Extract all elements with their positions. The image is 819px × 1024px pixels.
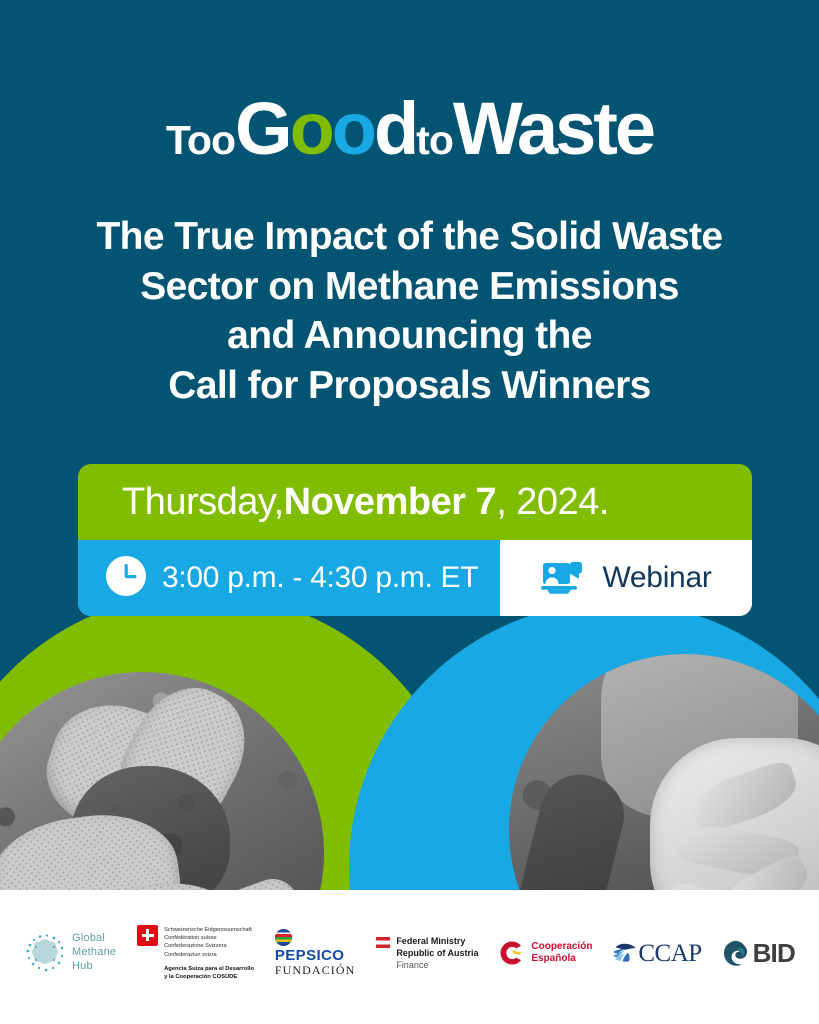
wordmark-waste: Waste (453, 87, 653, 170)
event-format-text: Webinar (602, 561, 711, 595)
ccap-globe-icon (613, 943, 637, 964)
methane-hub-dots-icon (24, 932, 66, 974)
austria-text-block: Federal Ministry Republic of Austria Fin… (396, 935, 478, 971)
ce-line-1: Cooperación (531, 941, 592, 954)
gmh-line-2: Methane (72, 946, 116, 960)
event-time-text: 3:00 p.m. - 4:30 p.m. ET (162, 561, 478, 595)
date-bold: November 7 (284, 481, 497, 524)
logo-cooperacion-espanola: Cooperación Española (499, 940, 592, 966)
headline: The True Impact of the Solid Waste Secto… (30, 212, 789, 410)
photo-compost-in-gloved-hands (0, 672, 324, 890)
too-good-to-waste-logo: TooGoodtoWaste (0, 92, 819, 166)
wordmark-to: to (416, 117, 453, 163)
bid-swirl-icon (723, 940, 750, 967)
logo-global-methane-hub: Global Methane Hub (24, 932, 116, 974)
photo-band (0, 594, 819, 890)
clock-icon (104, 554, 148, 603)
swiss-sub-2: y la Cooperación COSUDE (164, 973, 254, 981)
headline-line-3: and Announcing the (30, 311, 789, 361)
swiss-sub-1: Agencia Suiza para el Desarrollo (164, 965, 254, 973)
event-format-cell: Webinar (500, 540, 752, 616)
event-details-card: Thursday, November 7, 2024. 3:00 p.m. - … (78, 464, 752, 616)
wordmark-too: Too (166, 117, 235, 163)
video-conference-icon (540, 556, 586, 601)
gmh-line-3: Hub (72, 960, 116, 974)
date-suffix: , 2024. (496, 481, 609, 524)
methane-hub-text: Global Methane Hub (72, 932, 116, 973)
cooperacion-espanola-icon (499, 940, 525, 966)
pepsico-title: PEPSICO (275, 948, 345, 963)
headline-line-4: Call for Proposals Winners (30, 361, 789, 411)
ccap-title: CCAP (638, 941, 701, 966)
wordmark-d: d (374, 87, 416, 170)
swiss-line-4: Confederaziun svizra (164, 951, 254, 959)
austria-line-3: Finance (396, 959, 478, 971)
event-time-format-row: 3:00 p.m. - 4:30 p.m. ET Webinar (78, 540, 752, 616)
pepsico-subtitle: FUNDACIÓN (275, 963, 356, 978)
date-prefix: Thursday, (122, 481, 284, 524)
event-promo-poster: TooGoodtoWaste The True Impact of the So… (0, 0, 819, 1024)
headline-line-1: The True Impact of the Solid Waste (30, 212, 789, 262)
ce-line-2: Española (531, 953, 592, 966)
pepsico-globe-icon (275, 929, 292, 946)
sponsor-logo-strip: Global Methane Hub Schweizerische Eidgen… (0, 890, 819, 1024)
photo-food-waste-bag (509, 654, 819, 890)
headline-line-2: Sector on Methane Emissions (30, 262, 789, 312)
swiss-flag-icon (137, 925, 158, 946)
wordmark-g: G (235, 87, 290, 170)
swiss-line-3: Confederazione Svizzera (164, 942, 254, 950)
logo-austria-federal-ministry-finance: Federal Ministry Republic of Austria Fin… (376, 935, 478, 971)
logo-swiss-confederation-sdc: Schweizerische Eidgenossenschaft Confédé… (137, 925, 254, 982)
wordmark-o-green: o (290, 87, 332, 170)
event-time-cell: 3:00 p.m. - 4:30 p.m. ET (78, 540, 500, 616)
logo-bid: BID (723, 940, 795, 967)
bid-title: BID (753, 940, 795, 966)
logo-ccap: CCAP (613, 941, 701, 966)
gmh-line-1: Global (72, 932, 116, 946)
swiss-line-1: Schweizerische Eidgenossenschaft (164, 926, 254, 934)
event-date-band: Thursday, November 7, 2024. (78, 464, 752, 540)
cooperacion-espanola-text: Cooperación Española (531, 941, 592, 966)
austria-line-1: Federal Ministry (396, 935, 478, 947)
swiss-text-block: Schweizerische Eidgenossenschaft Confédé… (164, 926, 254, 982)
austria-flag-icon (376, 937, 390, 948)
austria-line-2: Republic of Austria (396, 947, 478, 959)
wordmark-o-blue: o (332, 87, 374, 170)
swiss-line-2: Confédération suisse (164, 934, 254, 942)
logo-pepsico-foundation: PEPSICO FUNDACIÓN (275, 929, 356, 978)
